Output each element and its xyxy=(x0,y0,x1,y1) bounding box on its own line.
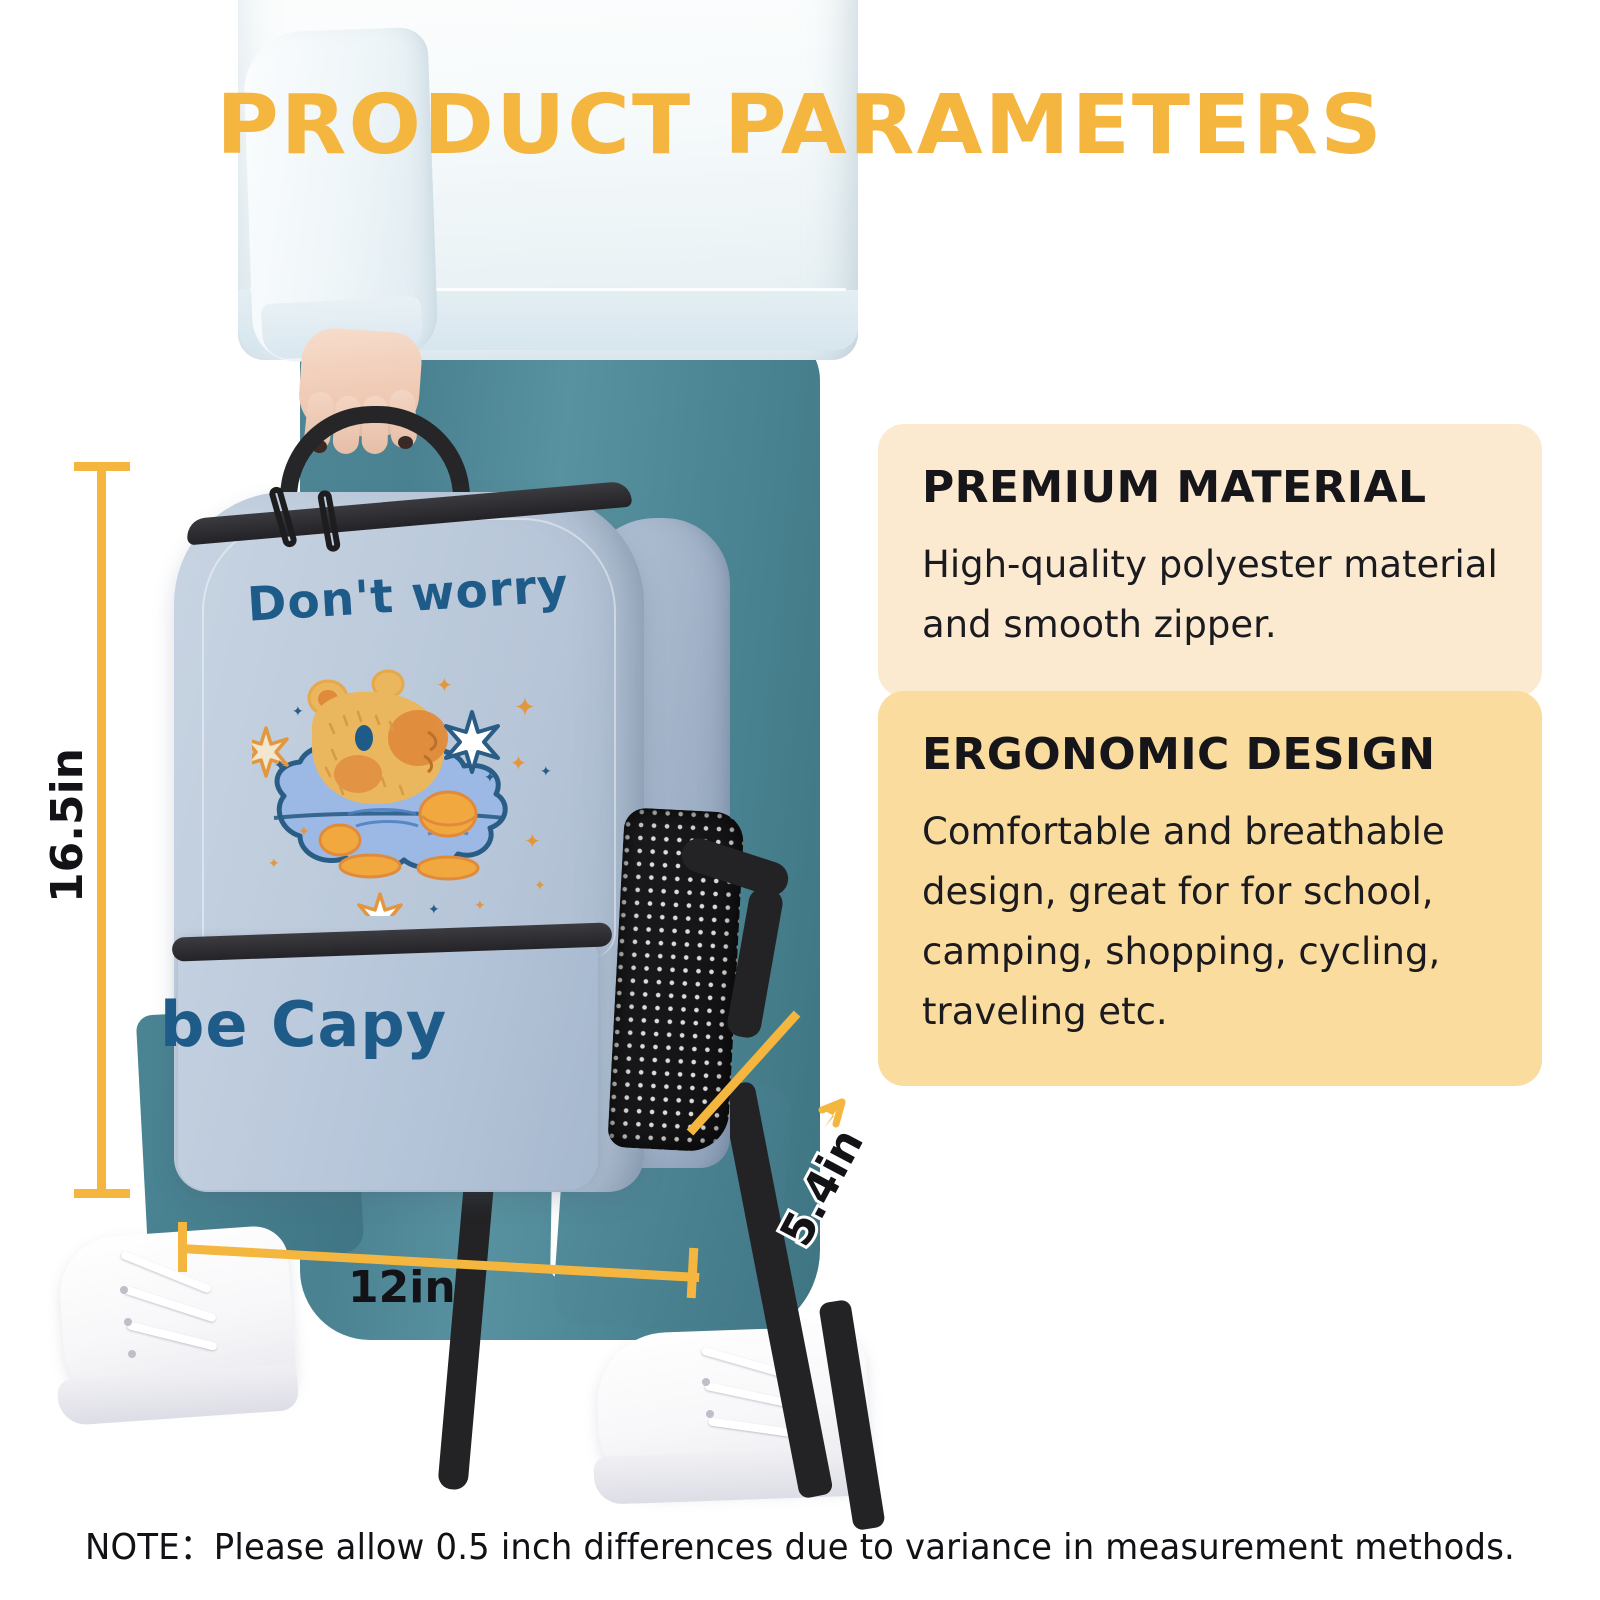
infographic-canvas: Don't worry xyxy=(0,0,1600,1600)
star-icon: ✦ xyxy=(268,856,280,870)
shoe-eyelet xyxy=(702,1378,710,1386)
star-icon: ✦ xyxy=(436,676,453,696)
feature-cards: PREMIUM MATERIAL High-quality polyester … xyxy=(878,424,1542,1086)
backpack-print: Don't worry xyxy=(208,568,608,958)
capybara-svg xyxy=(252,646,564,916)
shoe-eyelet xyxy=(120,1286,128,1294)
star-icon: ✦ xyxy=(292,704,304,718)
shoe-eyelet xyxy=(124,1318,132,1326)
height-dimension-line xyxy=(97,462,106,1198)
star-icon: ✦ xyxy=(484,770,496,784)
star-icon: ✦ xyxy=(514,694,536,720)
star-icon: ✦ xyxy=(524,832,541,852)
width-dimension-label: 12in xyxy=(348,1262,456,1313)
print-bottom-text: be Capy xyxy=(160,988,580,1061)
height-dimension-label: 16.5in xyxy=(42,748,93,903)
measurement-note: NOTE：Please allow 0.5 inch differences d… xyxy=(48,1518,1552,1570)
shoe-eyelet xyxy=(706,1410,714,1418)
star-icon: ✦ xyxy=(298,824,310,838)
model-right-shoe-sole xyxy=(593,1447,875,1505)
width-dimension-cap-left xyxy=(178,1222,187,1272)
capybara-illustration: ✦ ✦ ✦ ✦ ✦ ✦ ✦ ✦ ✦ ✦ ✦ ✦ ✦ xyxy=(252,646,564,916)
star-icon: ✦ xyxy=(510,754,527,774)
feature-card-title: PREMIUM MATERIAL xyxy=(922,462,1500,513)
page-title: PRODUCT PARAMETERS xyxy=(0,78,1600,173)
feature-card-ergonomic-design: ERGONOMIC DESIGN Comfortable and breatha… xyxy=(878,691,1542,1086)
star-icon: ✦ xyxy=(274,758,286,772)
feature-card-body: High-quality polyester material and smoo… xyxy=(922,535,1500,655)
product-photo: Don't worry xyxy=(0,0,1000,1530)
feature-card-title: ERGONOMIC DESIGN xyxy=(922,729,1500,780)
star-icon: ✦ xyxy=(474,898,486,912)
height-dimension-cap-top xyxy=(74,462,130,471)
feature-card-body: Comfortable and breathable design, great… xyxy=(922,802,1500,1042)
feature-card-premium-material: PREMIUM MATERIAL High-quality polyester … xyxy=(878,424,1542,697)
print-top-text: Don't worry xyxy=(207,556,610,635)
backpack-front-pocket xyxy=(178,940,598,1190)
star-icon: ✦ xyxy=(428,902,440,916)
star-icon: ✦ xyxy=(534,878,546,892)
height-dimension-cap-bottom xyxy=(74,1189,130,1198)
star-icon: ✦ xyxy=(540,764,552,778)
backpack: Don't worry xyxy=(150,400,750,1230)
shoe-eyelet xyxy=(128,1350,136,1358)
